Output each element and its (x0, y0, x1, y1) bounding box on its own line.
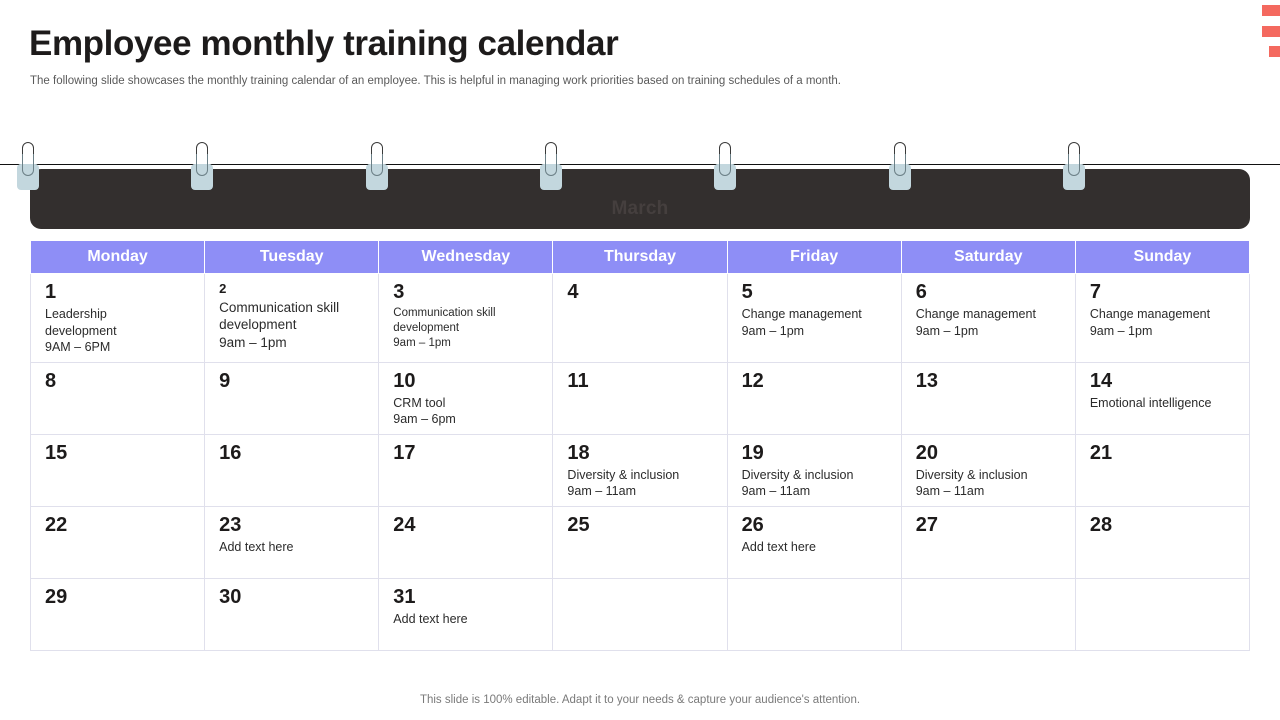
calendar-day-cell-23[interactable]: 23Add text here (205, 506, 379, 578)
day-number: 6 (916, 282, 1065, 303)
day-number: 12 (742, 371, 891, 392)
binder-clip (188, 142, 216, 190)
month-label: March (30, 198, 1250, 220)
calendar-day-cell-26[interactable]: 26Add text here (727, 506, 901, 578)
day-event-text: Add text here (219, 539, 368, 556)
day-number: 15 (45, 443, 194, 464)
day-number: 25 (567, 515, 716, 536)
corner-mark-1 (1262, 5, 1280, 16)
calendar-day-header-monday: Monday (31, 241, 205, 274)
calendar-day-cell-29[interactable]: 29 (31, 578, 205, 650)
clip-wire-overlay-icon (545, 154, 557, 176)
calendar-day-header-sunday: Sunday (1075, 241, 1249, 274)
day-number: 7 (1090, 282, 1239, 303)
day-number: 20 (916, 443, 1065, 464)
clip-wire-overlay-icon (371, 154, 383, 176)
calendar-day-cell-2[interactable]: 2Communication skill development 9am – 1… (205, 274, 379, 363)
binder-clip (14, 142, 42, 190)
calendar-day-cell-11[interactable]: 11 (553, 362, 727, 434)
page-title: Employee monthly training calendar (29, 24, 618, 64)
slide-footer-note: This slide is 100% editable. Adapt it to… (0, 694, 1280, 706)
day-number: 10 (393, 371, 542, 392)
day-number: 13 (916, 371, 1065, 392)
binder-clip (537, 142, 565, 190)
calendar-day-cell-17[interactable]: 17 (379, 434, 553, 506)
day-number: 8 (45, 371, 194, 392)
calendar-day-cell-31[interactable]: 31Add text here (379, 578, 553, 650)
day-event-text: Add text here (393, 611, 542, 628)
calendar-day-cell-empty[interactable] (727, 578, 901, 650)
day-number: 27 (916, 515, 1065, 536)
clip-wire-overlay-icon (894, 154, 906, 176)
calendar-day-header-wednesday: Wednesday (379, 241, 553, 274)
corner-mark-2 (1262, 26, 1280, 37)
binder-clip (363, 142, 391, 190)
calendar-day-cell-6[interactable]: 6Change management 9am – 1pm (901, 274, 1075, 363)
calendar-day-header-friday: Friday (727, 241, 901, 274)
calendar-day-header-tuesday: Tuesday (205, 241, 379, 274)
day-number: 16 (219, 443, 368, 464)
calendar-day-header-saturday: Saturday (901, 241, 1075, 274)
calendar-week-row: 1Leadership development 9AM – 6PM2Commun… (31, 274, 1250, 363)
calendar-day-cell-19[interactable]: 19Diversity & inclusion 9am – 11am (727, 434, 901, 506)
calendar-day-cell-4[interactable]: 4 (553, 274, 727, 363)
day-event-text: Change management 9am – 1pm (916, 306, 1065, 339)
day-number: 5 (742, 282, 891, 303)
day-event-text: Communication skill development 9am – 1p… (393, 306, 542, 352)
day-number: 30 (219, 587, 368, 608)
calendar-day-cell-empty[interactable] (901, 578, 1075, 650)
calendar-week-row: 8910CRM tool 9am – 6pm11121314Emotional … (31, 362, 1250, 434)
day-number: 19 (742, 443, 891, 464)
day-number: 26 (742, 515, 891, 536)
calendar-day-cell-12[interactable]: 12 (727, 362, 901, 434)
calendar-week-row: 293031Add text here (31, 578, 1250, 650)
binder-clip (711, 142, 739, 190)
day-number: 24 (393, 515, 542, 536)
calendar-day-header-thursday: Thursday (553, 241, 727, 274)
calendar-header-row: MondayTuesdayWednesdayThursdayFridaySatu… (31, 241, 1250, 274)
calendar-day-cell-27[interactable]: 27 (901, 506, 1075, 578)
calendar-table: MondayTuesdayWednesdayThursdayFridaySatu… (30, 240, 1250, 651)
calendar-day-cell-16[interactable]: 16 (205, 434, 379, 506)
day-event-text: Add text here (742, 539, 891, 556)
calendar-day-cell-28[interactable]: 28 (1075, 506, 1249, 578)
calendar-day-cell-20[interactable]: 20Diversity & inclusion 9am – 11am (901, 434, 1075, 506)
calendar-day-cell-7[interactable]: 7Change management 9am – 1pm (1075, 274, 1249, 363)
corner-decoration (1250, 0, 1280, 70)
calendar-day-cell-empty[interactable] (1075, 578, 1249, 650)
calendar-day-cell-18[interactable]: 18Diversity & inclusion 9am – 11am (553, 434, 727, 506)
day-number: 3 (393, 282, 542, 303)
day-number: 1 (45, 282, 194, 303)
clip-wire-overlay-icon (196, 154, 208, 176)
day-event-text: Communication skill development 9am – 1p… (219, 299, 368, 352)
day-event-text: Diversity & inclusion 9am – 11am (916, 467, 1065, 500)
binder-clip (886, 142, 914, 190)
day-event-text: Diversity & inclusion 9am – 11am (742, 467, 891, 500)
calendar-day-cell-14[interactable]: 14Emotional intelligence (1075, 362, 1249, 434)
day-number: 21 (1090, 443, 1239, 464)
calendar-day-cell-empty[interactable] (553, 578, 727, 650)
calendar-day-cell-3[interactable]: 3Communication skill development 9am – 1… (379, 274, 553, 363)
calendar-day-cell-25[interactable]: 25 (553, 506, 727, 578)
clip-wire-overlay-icon (1068, 154, 1080, 176)
day-number: 31 (393, 587, 542, 608)
calendar-day-cell-13[interactable]: 13 (901, 362, 1075, 434)
day-number: 4 (567, 282, 716, 303)
day-number: 28 (1090, 515, 1239, 536)
day-number: 29 (45, 587, 194, 608)
day-number: 2 (219, 282, 368, 296)
day-event-text: CRM tool 9am – 6pm (393, 395, 542, 428)
clip-wire-overlay-icon (22, 154, 34, 176)
day-number: 22 (45, 515, 194, 536)
calendar-day-cell-30[interactable]: 30 (205, 578, 379, 650)
clip-wire-overlay-icon (719, 154, 731, 176)
day-number: 9 (219, 371, 368, 392)
calendar-day-cell-9[interactable]: 9 (205, 362, 379, 434)
binder-clip (1060, 142, 1088, 190)
calendar-day-cell-8[interactable]: 8 (31, 362, 205, 434)
day-number: 17 (393, 443, 542, 464)
day-number: 11 (567, 371, 716, 392)
calendar-day-cell-5[interactable]: 5Change management 9am – 1pm (727, 274, 901, 363)
calendar-day-cell-24[interactable]: 24 (379, 506, 553, 578)
calendar-week-row: 15161718Diversity & inclusion 9am – 11am… (31, 434, 1250, 506)
day-number: 14 (1090, 371, 1239, 392)
page-subtitle: The following slide showcases the monthl… (30, 75, 841, 87)
day-event-text: Diversity & inclusion 9am – 11am (567, 467, 716, 500)
corner-mark-3 (1269, 46, 1280, 57)
calendar-week-row: 2223Add text here242526Add text here2728 (31, 506, 1250, 578)
calendar-day-cell-10[interactable]: 10CRM tool 9am – 6pm (379, 362, 553, 434)
day-event-text: Change management 9am – 1pm (1090, 306, 1239, 339)
calendar-day-cell-22[interactable]: 22 (31, 506, 205, 578)
calendar-day-cell-1[interactable]: 1Leadership development 9AM – 6PM (31, 274, 205, 363)
calendar-day-cell-21[interactable]: 21 (1075, 434, 1249, 506)
day-number: 23 (219, 515, 368, 536)
day-event-text: Change management 9am – 1pm (742, 306, 891, 339)
day-number: 18 (567, 443, 716, 464)
day-event-text: Leadership development 9AM – 6PM (45, 306, 194, 356)
calendar-day-cell-15[interactable]: 15 (31, 434, 205, 506)
day-event-text: Emotional intelligence (1090, 395, 1239, 412)
